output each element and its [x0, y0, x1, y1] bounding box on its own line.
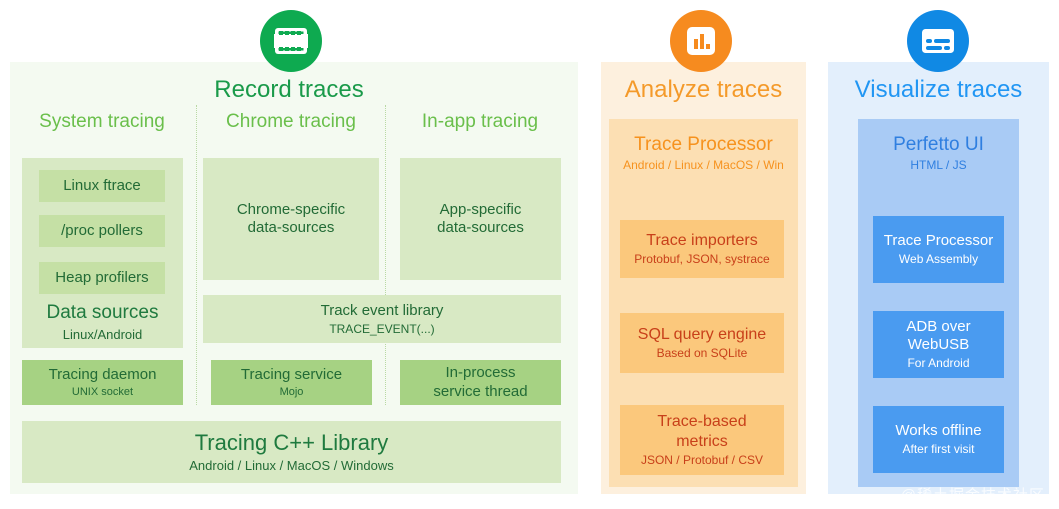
- chip-title: Works offline: [895, 422, 981, 440]
- box-subtitle: Android / Linux / MacOS / Windows: [189, 458, 393, 474]
- watermark: @稀土掘金技术社区: [901, 484, 1045, 505]
- group-label-data-sources: Data sources Linux/Android: [22, 298, 183, 346]
- box-subtitle: TRACE_EVENT(...): [329, 322, 434, 337]
- column-heading-chrome-tracing: Chrome tracing: [203, 111, 379, 133]
- section-title-analyze: Analyze traces: [601, 76, 806, 104]
- chip-title: SQL query engine: [638, 325, 766, 345]
- chip-subtitle: For Android: [907, 356, 969, 371]
- chip-title-line-2: WebUSB: [908, 336, 969, 354]
- group-title: Trace Processor: [634, 133, 773, 156]
- chip-subtitle: JSON / Protobuf / CSV: [641, 453, 763, 468]
- chip-trace-processor-wasm[interactable]: Trace Processor Web Assembly: [873, 216, 1004, 283]
- bar-chart-icon: [670, 10, 732, 72]
- box-line-2: data-sources: [437, 219, 524, 237]
- box-app-specific-data-sources[interactable]: App-specific data-sources: [400, 158, 561, 280]
- group-subtitle: Linux/Android: [63, 327, 143, 343]
- chip-trace-based-metrics[interactable]: Trace-based metrics JSON / Protobuf / CS…: [620, 405, 784, 475]
- box-title: Tracing daemon: [49, 366, 157, 384]
- column-heading-system-tracing: System tracing: [14, 111, 190, 133]
- box-tracing-service[interactable]: Tracing service Mojo: [211, 360, 372, 405]
- box-track-event-library[interactable]: Track event library TRACE_EVENT(...): [203, 295, 561, 343]
- chip-subtitle: Protobuf, JSON, systrace: [634, 252, 769, 267]
- box-chrome-specific-data-sources[interactable]: Chrome-specific data-sources: [203, 158, 379, 280]
- chip-subtitle: After first visit: [902, 442, 974, 457]
- section-title-record: Record traces: [0, 76, 578, 104]
- box-title-line-1: In-process: [445, 364, 515, 382]
- chip-sql-query-engine[interactable]: SQL query engine Based on SQLite: [620, 313, 784, 373]
- chip-linux-ftrace[interactable]: Linux ftrace: [39, 170, 165, 202]
- column-divider-1: [196, 105, 197, 405]
- chip-subtitle: Based on SQLite: [657, 346, 748, 361]
- box-title: Tracing C++ Library: [195, 430, 389, 457]
- box-subtitle: UNIX socket: [72, 386, 133, 399]
- box-tracing-daemon[interactable]: Tracing daemon UNIX socket: [22, 360, 183, 405]
- group-subtitle: Android / Linux / MacOS / Win: [623, 158, 784, 173]
- column-heading-in-app-tracing: In-app tracing: [392, 111, 568, 133]
- group-title: Perfetto UI: [893, 133, 984, 156]
- chip-title-line-1: Trace-based: [657, 412, 746, 432]
- chip-works-offline[interactable]: Works offline After first visit: [873, 406, 1004, 473]
- chip-subtitle: Web Assembly: [899, 252, 978, 267]
- diagram-canvas: Record traces Analyze traces Visualize t…: [0, 0, 1059, 509]
- box-title: Tracing service: [241, 366, 342, 384]
- section-title-visualize: Visualize traces: [828, 76, 1049, 104]
- box-in-process-service-thread[interactable]: In-process service thread: [400, 360, 561, 405]
- box-line-1: App-specific: [440, 201, 522, 219]
- film-strip-icon: [260, 10, 322, 72]
- box-title-line-2: service thread: [433, 383, 527, 401]
- chip-label: Linux ftrace: [63, 177, 141, 195]
- timeline-track-icon: [907, 10, 969, 72]
- box-line-2: data-sources: [248, 219, 335, 237]
- box-title: Track event library: [321, 302, 444, 320]
- chip-title-line-2: metrics: [676, 432, 728, 452]
- group-subtitle: HTML / JS: [910, 158, 966, 173]
- chip-label: Heap profilers: [55, 269, 148, 287]
- column-divider-2: [385, 105, 386, 405]
- chip-title: Trace importers: [646, 231, 757, 251]
- chip-adb-over-webusb[interactable]: ADB over WebUSB For Android: [873, 311, 1004, 378]
- box-tracing-cpp-library[interactable]: Tracing C++ Library Android / Linux / Ma…: [22, 421, 561, 483]
- box-subtitle: Mojo: [280, 386, 304, 399]
- chip-heap-profilers[interactable]: Heap profilers: [39, 262, 165, 294]
- chip-trace-importers[interactable]: Trace importers Protobuf, JSON, systrace: [620, 220, 784, 278]
- chip-proc-pollers[interactable]: /proc pollers: [39, 215, 165, 247]
- box-line-1: Chrome-specific: [237, 201, 345, 219]
- group-title: Data sources: [47, 301, 159, 324]
- chip-title-line-1: ADB over: [906, 318, 970, 336]
- chip-label: /proc pollers: [61, 222, 143, 240]
- chip-title: Trace Processor: [884, 232, 993, 250]
